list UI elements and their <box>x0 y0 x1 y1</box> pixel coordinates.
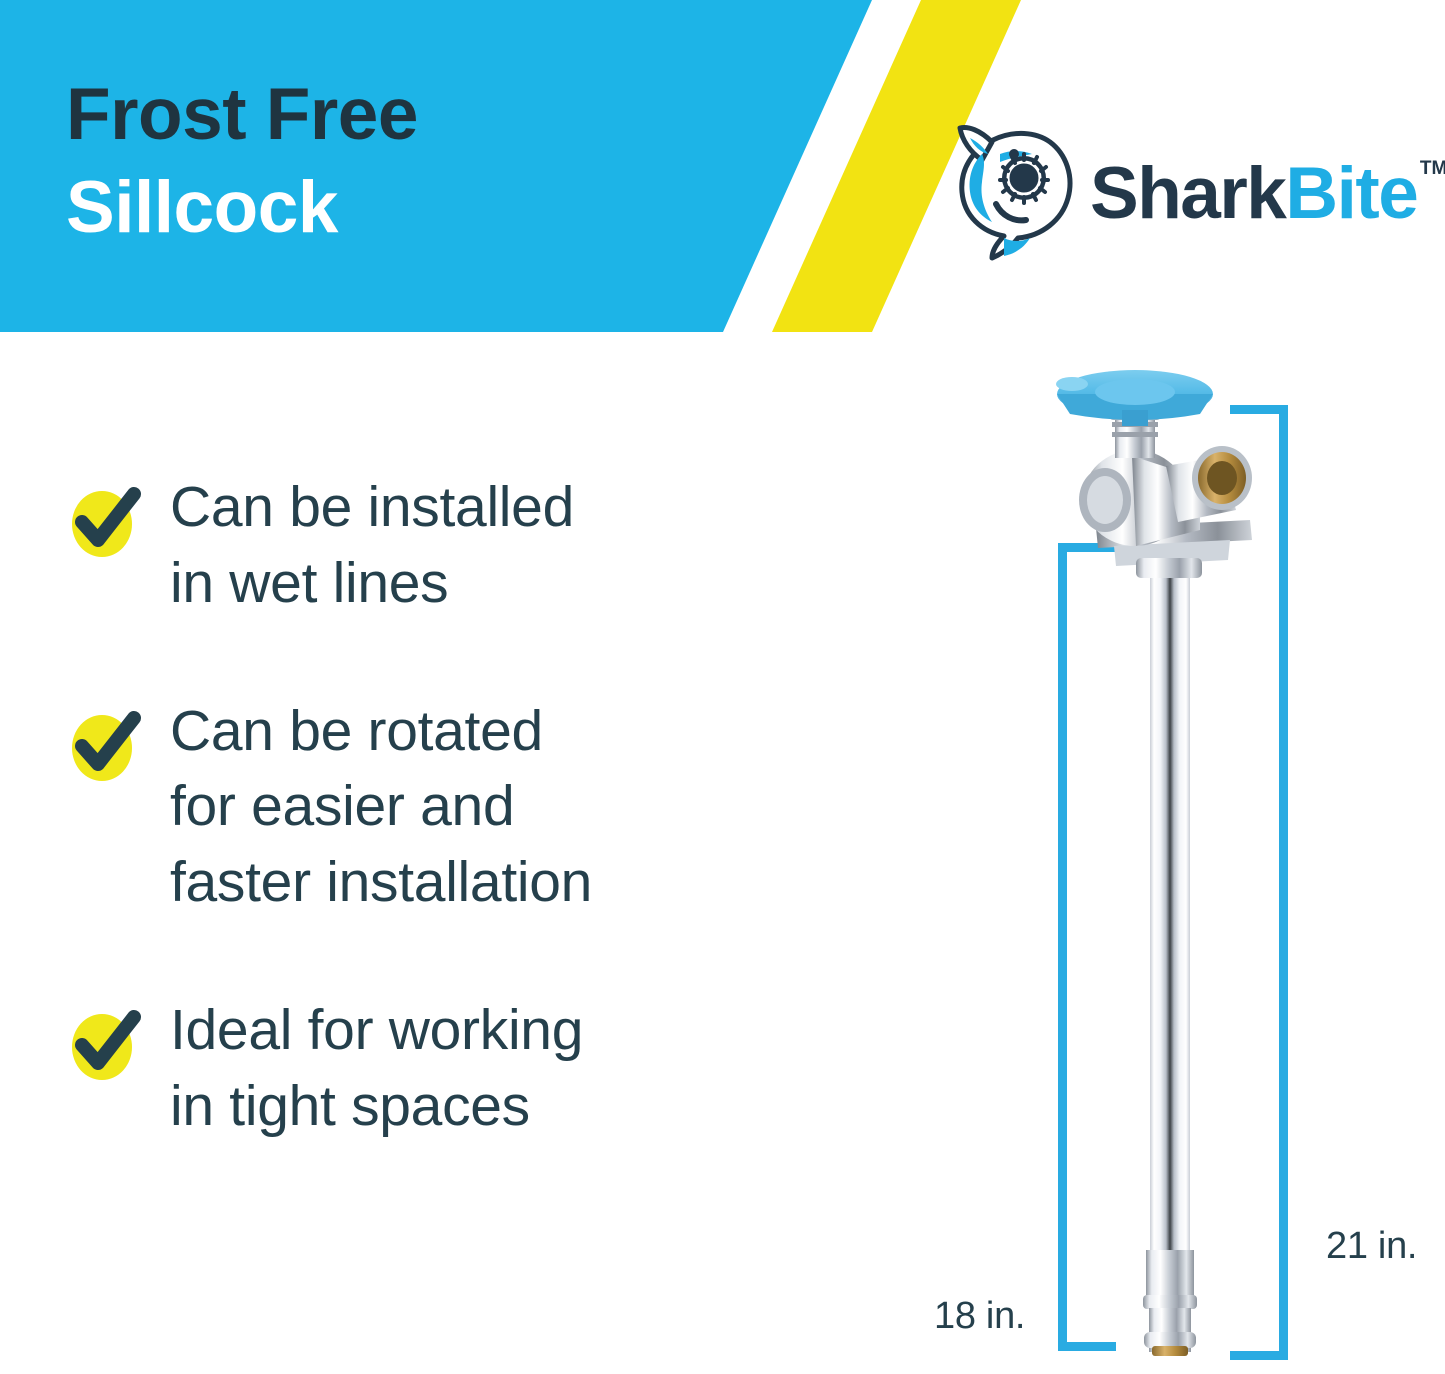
yellow-check-icon <box>68 708 142 784</box>
page-title-secondary: Sillcock <box>66 171 706 244</box>
brand-name-bite: Bite <box>1285 153 1417 234</box>
feature-list: Can be installed in wet lines Can be rot… <box>68 470 888 1145</box>
dimension-label-18in: 18 in. <box>934 1295 1025 1338</box>
yellow-check-icon <box>68 484 142 560</box>
valve-riser-tube <box>1150 570 1190 1260</box>
product-illustration: 18 in. 21 in. <box>900 370 1445 1374</box>
feature-label: Can be installed in wet lines <box>170 470 574 622</box>
brand-name-shark: Shark <box>1090 153 1285 234</box>
infographic-page: Frost Free Sillcock <box>0 0 1445 1374</box>
valve-handle <box>1056 370 1213 426</box>
trademark-symbol: TM <box>1420 159 1445 178</box>
banner-title: Frost Free Sillcock <box>66 78 706 244</box>
shark-eye <box>1009 149 1019 159</box>
dimension-line-18in <box>1058 543 1116 1351</box>
dimension-line-21in <box>1230 405 1288 1360</box>
sharkbite-logo: SharkBite TM <box>952 118 1442 268</box>
feature-item: Ideal for working in tight spaces <box>68 993 888 1145</box>
yellow-check-icon <box>68 1007 142 1083</box>
page-title-primary: Frost Free <box>66 78 706 151</box>
shark-logo-icon <box>952 124 1084 262</box>
brand-wordmark: SharkBite TM <box>1090 157 1417 230</box>
feature-item: Can be rotated for easier and faster ins… <box>68 694 888 921</box>
product-and-dimension-lines <box>900 370 1445 1374</box>
feature-label: Can be rotated for easier and faster ins… <box>170 694 592 921</box>
dimension-label-21in: 21 in. <box>1326 1225 1417 1268</box>
feature-item: Can be installed in wet lines <box>68 470 888 622</box>
feature-label: Ideal for working in tight spaces <box>170 993 583 1145</box>
valve-bottom-connector <box>1143 1250 1197 1356</box>
